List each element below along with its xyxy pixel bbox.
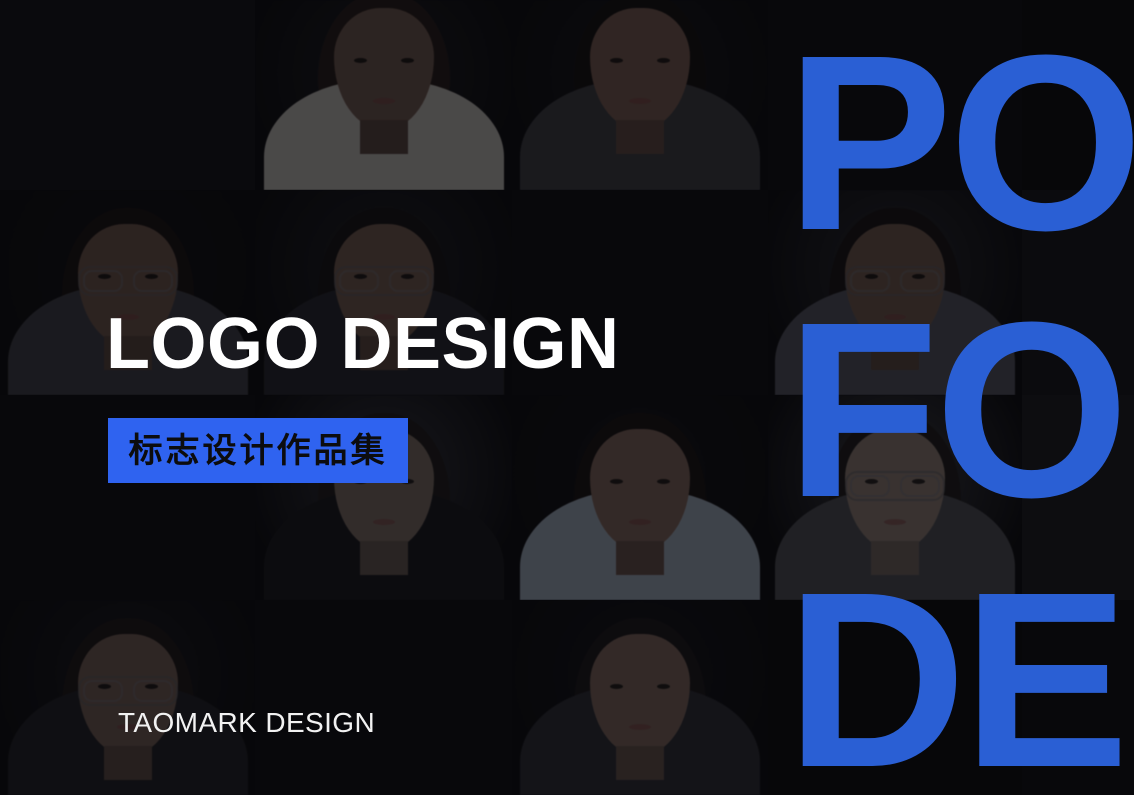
portrait-figure — [512, 0, 768, 190]
mosaic-empty-cell — [768, 0, 1022, 190]
mosaic-portrait-cell — [512, 395, 768, 600]
mosaic-portrait-cell — [768, 190, 1022, 395]
mosaic-empty-cell — [0, 0, 255, 190]
photo-mosaic — [0, 0, 1134, 795]
page-title: LOGO DESIGN — [106, 308, 620, 380]
subtitle-badge-label: 标志设计作品集 — [129, 434, 388, 468]
portrait-figure — [768, 190, 1022, 395]
mosaic-portrait-cell — [0, 600, 255, 795]
mosaic-empty-cell — [1022, 190, 1134, 395]
portrait-figure — [255, 0, 512, 190]
portrait-figure — [512, 600, 768, 795]
mosaic-empty-cell — [255, 600, 512, 795]
mosaic-portrait-cell — [512, 0, 768, 190]
mosaic-empty-cell — [1022, 0, 1134, 190]
brand-credit: TAOMARK DESIGN — [118, 707, 375, 739]
mosaic-portrait-cell — [512, 600, 768, 795]
subtitle-badge: 标志设计作品集 — [108, 418, 408, 483]
mosaic-portrait-cell — [768, 395, 1022, 600]
portrait-figure — [512, 395, 768, 600]
mosaic-empty-cell — [1022, 600, 1134, 795]
mosaic-empty-cell — [1022, 395, 1134, 600]
poster-canvas: PO FO DE LOGO DESIGN 标志设计作品集 TAOMARK DES… — [0, 0, 1134, 795]
mosaic-portrait-cell — [255, 0, 512, 190]
portrait-figure — [0, 600, 255, 795]
mosaic-empty-cell — [768, 600, 1022, 795]
portrait-figure — [768, 395, 1022, 600]
